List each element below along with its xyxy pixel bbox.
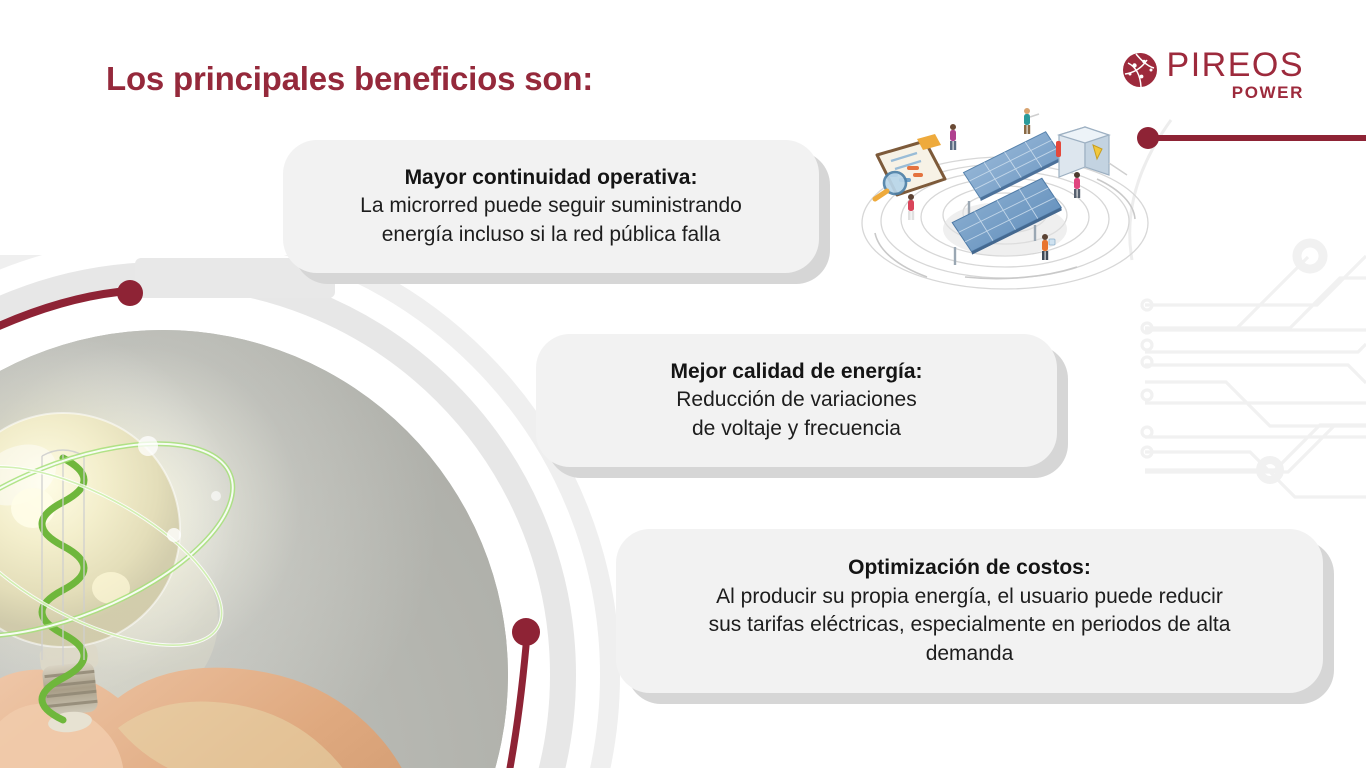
benefit-card-1: Mayor continuidad operativa: La microrre…: [283, 140, 819, 273]
benefit-card-2-heading: Mejor calidad de energía:: [670, 358, 922, 386]
benefit-card-3: Optimización de costos: Al producir su p…: [616, 529, 1323, 693]
brand-logo-wordmark: PIREOS POWER: [1167, 48, 1304, 101]
pireos-globe-icon: [1122, 52, 1158, 88]
brand-name-primary: PIREOS: [1167, 48, 1304, 82]
connector-bottom: [510, 618, 540, 768]
isometric-solar-microgrid-illustration: [855, 105, 1155, 295]
benefit-card-1-heading: Mayor continuidad operativa:: [405, 164, 698, 192]
slide-canvas: Mayor continuidad operativa: La microrre…: [0, 0, 1366, 768]
benefit-card-2-body: Reducción de variaciones de voltaje y fr…: [676, 386, 916, 443]
benefit-card-3-heading: Optimización de costos:: [848, 554, 1091, 582]
page-title: Los principales beneficios son:: [106, 60, 593, 98]
hand-holding-lightbulb-photo: [0, 330, 508, 768]
brand-name-secondary: POWER: [1232, 84, 1304, 101]
benefit-card-3-body: Al producir su propia energía, el usuari…: [709, 583, 1231, 669]
benefit-card-2: Mejor calidad de energía: Reducción de v…: [536, 334, 1057, 467]
connector-top-right: [1137, 127, 1366, 149]
benefit-card-1-body: La microrred puede seguir suministrando …: [360, 192, 742, 249]
brand-logo: PIREOS POWER: [1122, 48, 1304, 101]
connector-left: [0, 280, 143, 330]
